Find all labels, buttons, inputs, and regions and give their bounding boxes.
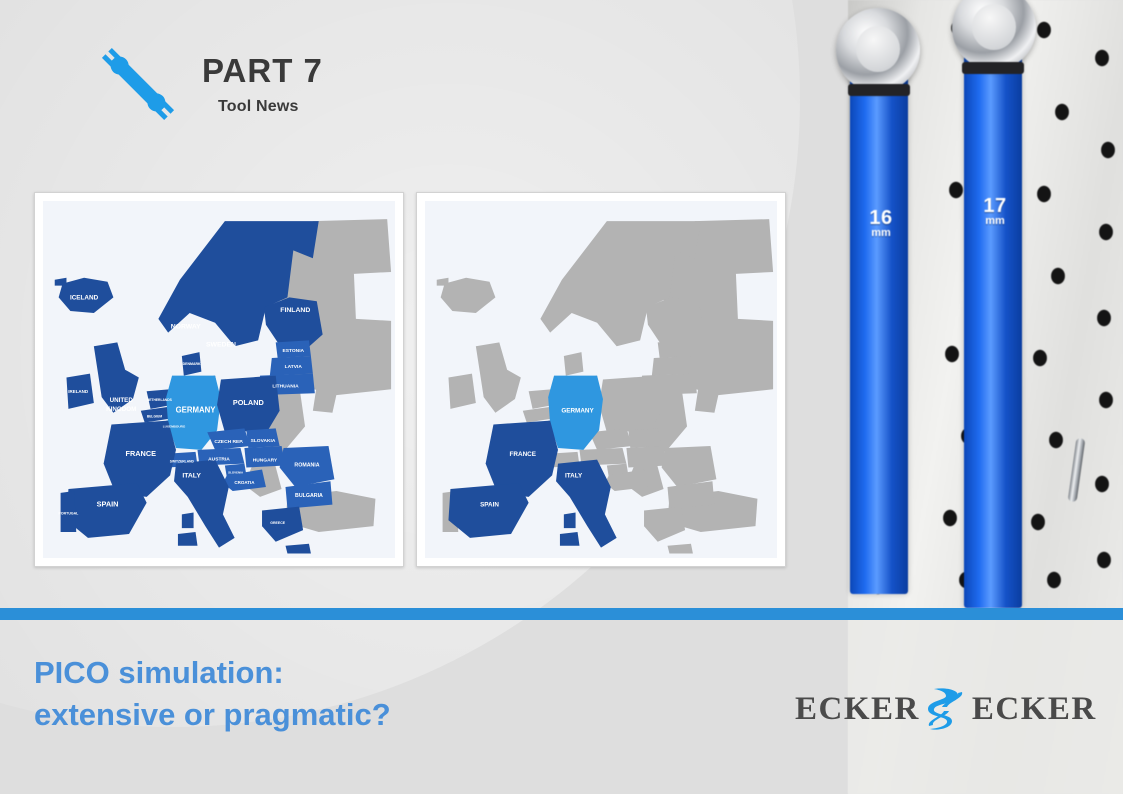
map-label: ITALY — [182, 472, 201, 479]
map-card-extensive[interactable]: ICELAND NORWAY SWEDEN FINLAND ESTONIA LA… — [34, 192, 404, 567]
map-label: SWITZERLAND — [170, 460, 195, 464]
pegboard-hook-icon — [1068, 438, 1086, 503]
map-label: PORTUGAL — [59, 511, 80, 515]
map-label: DENMARK — [183, 362, 201, 366]
map-label: FRANCE — [126, 449, 157, 458]
map-label: BULGARIA — [295, 493, 323, 499]
map-canvas-pragmatic: GERMANY FRANCE ITALY SPAIN — [425, 201, 777, 558]
map-label: LUXEMBOURG — [163, 424, 186, 428]
map-label: ICELAND — [70, 294, 99, 301]
wrench-size-17mm: 17 mm — [972, 196, 1018, 227]
map-label: UNITED — [110, 397, 134, 404]
map-label: SPAIN — [97, 500, 119, 509]
map-label: GERMANY — [176, 406, 217, 415]
map-label: LATVIA — [285, 364, 303, 370]
europe-map-extensive-svg: ICELAND NORWAY SWEDEN FINLAND ESTONIA LA… — [43, 201, 395, 558]
brand-logo[interactable]: ECKER ECKER — [795, 684, 1097, 734]
map-label: GERMANY — [561, 408, 594, 415]
wrench-size-number: 17 — [972, 196, 1018, 216]
page-title: PART 7 — [202, 52, 323, 90]
map-label: IRELAND — [68, 389, 89, 394]
map-label: ITALY — [565, 472, 583, 479]
map-label: LITHUANIA — [272, 383, 299, 389]
wrench-size-unit: mm — [972, 216, 1018, 227]
logo-word-right: ECKER — [972, 691, 1097, 728]
footer-title-line1: PICO simulation: — [34, 652, 391, 694]
slide: 16 mm 17 mm PART 7 Tool News — [0, 0, 1123, 794]
map-label: CZECH REP. — [214, 439, 244, 445]
accent-divider — [0, 608, 1123, 620]
map-label: GREECE — [270, 521, 286, 525]
map-label: SLOVAKIA — [251, 438, 276, 444]
map-label: FRANCE — [510, 451, 536, 458]
footer-title: PICO simulation: extensive or pragmatic? — [34, 652, 391, 736]
wrench-photo-16mm — [850, 64, 908, 594]
slide-header: PART 7 Tool News — [0, 0, 470, 150]
logo-word-left: ECKER — [795, 691, 920, 728]
map-label: FINLAND — [280, 307, 310, 314]
europe-map-pragmatic-svg: GERMANY FRANCE ITALY SPAIN — [425, 201, 777, 558]
wrench-size-unit: mm — [858, 228, 904, 239]
double-s-mark-icon — [924, 684, 968, 734]
map-label: NORWAY — [171, 324, 201, 331]
page-subtitle: Tool News — [218, 98, 299, 116]
wrench-size-16mm: 16 mm — [858, 208, 904, 239]
map-label: SLOVENIA — [228, 470, 244, 474]
map-label: POLAND — [233, 398, 264, 407]
map-label: BELGIUM — [147, 415, 163, 419]
map-label: HUNGARY — [253, 458, 278, 464]
map-label: ROMANIA — [294, 463, 319, 469]
map-label: AUSTRIA — [208, 457, 230, 463]
wrench-collar-17mm — [962, 62, 1024, 74]
map-label: ESTONIA — [283, 348, 305, 354]
map-label: NETHERLANDS — [147, 398, 173, 402]
wrench-size-number: 16 — [858, 208, 904, 228]
map-label: SPAIN — [480, 502, 499, 509]
wrench-collar-16mm — [848, 84, 910, 96]
wrench-icon — [88, 34, 188, 134]
map-card-pragmatic[interactable]: GERMANY FRANCE ITALY SPAIN — [416, 192, 786, 567]
map-canvas-extensive: ICELAND NORWAY SWEDEN FINLAND ESTONIA LA… — [43, 201, 395, 558]
map-label: KINGDOM — [106, 406, 136, 413]
wrench-photo-17mm — [964, 42, 1022, 608]
map-label: SWEDEN — [206, 341, 236, 348]
footer-title-line2: extensive or pragmatic? — [34, 694, 391, 736]
wrench-ring-16mm — [836, 8, 920, 92]
map-label: CROATIA — [234, 480, 255, 485]
